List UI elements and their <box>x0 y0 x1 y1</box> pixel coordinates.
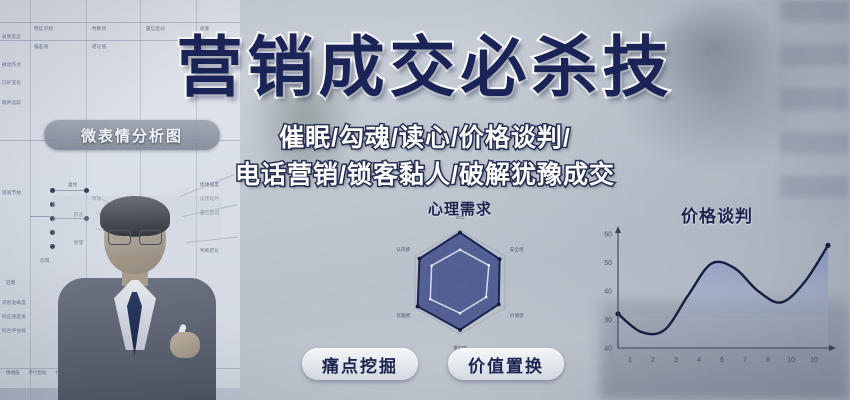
radar-axis-label: 优越感 <box>396 312 410 319</box>
panel-column-header: 特征识别 <box>34 26 53 32</box>
value-exchange-label: 价值置换 <box>468 352 544 377</box>
panel-side-note: 综合评估级 <box>2 328 26 334</box>
radar-axis-label: 价值感 <box>510 312 524 319</box>
x-axis-tick-label: 3 <box>674 357 678 364</box>
x-axis-arrow <box>829 345 836 351</box>
y-axis-tick-label: 40 <box>604 346 612 353</box>
x-axis-tick-label: 7 <box>743 357 747 364</box>
y-axis-tick-label: 50 <box>604 260 612 267</box>
subtitle-line-1: 催眠/勾魂/读心/价格谈判/ <box>0 118 850 154</box>
y-axis-tick-label: 40 <box>604 289 612 296</box>
price-negotiation-chart: 价格谈判 6050403040 12346781010 <box>592 198 842 388</box>
y-axis-arrow <box>615 226 621 233</box>
presenter-figure <box>52 196 222 400</box>
panel-side-note: 识别准确度 <box>2 300 26 306</box>
pain-point-pill[interactable]: 痛点挖掘 <box>302 348 418 380</box>
value-exchange-pill[interactable]: 价值置换 <box>448 348 564 380</box>
line-chart-svg: 6050403040 12346781010 <box>592 224 842 384</box>
radar-axis-label: 安全感 <box>510 246 524 253</box>
panel-node-label: 轻蔑 <box>6 280 16 286</box>
x-axis-tick-label: 10 <box>787 357 795 364</box>
end-point-marker <box>825 243 830 248</box>
legend-item: 情绪值 <box>6 370 20 376</box>
page-title: 营销成交必杀技 <box>0 34 850 100</box>
panel-side-note: 响应速度值 <box>2 314 26 320</box>
radar-chart: 心理需求 信任安全感价值感掌控感优越感认同感 <box>340 198 580 358</box>
panel-node-label: 恐惧 <box>40 258 50 264</box>
radar-axis-label: 认同感 <box>396 246 410 253</box>
area-fill <box>618 245 828 348</box>
subtitle-line-2: 电话营销/锁客黏人/破解犹豫成交 <box>0 155 850 191</box>
legend-item: 单行指标 <box>29 370 47 376</box>
pain-point-label: 痛点挖掘 <box>322 352 398 377</box>
x-axis-tick-label: 2 <box>651 357 655 364</box>
panel-column-header: 置信区间 <box>146 26 165 32</box>
x-axis-tick-label: 1 <box>628 357 632 364</box>
panel-column-header: 判断项 <box>92 26 106 32</box>
banner-stage: 特征识别 判断项 置信区间 权重 偏差值 结论值 表情反应 微动作点 口形变化 … <box>0 0 850 400</box>
x-axis-tick-label: 6 <box>720 357 724 364</box>
radar-axis-label: 信任 <box>455 216 465 220</box>
radar-chart-svg: 信任安全感价值感掌控感优越感认同感 <box>340 216 580 356</box>
y-axis-tick-label: 60 <box>604 232 612 239</box>
panel-row-label: 眼神追踪 <box>2 100 21 106</box>
x-axis-tick-label: 8 <box>766 357 770 364</box>
x-axis-tick-label: 10 <box>810 357 818 364</box>
y-axis-tick-label: 30 <box>604 317 612 324</box>
x-axis-tick-label: 4 <box>697 357 701 364</box>
